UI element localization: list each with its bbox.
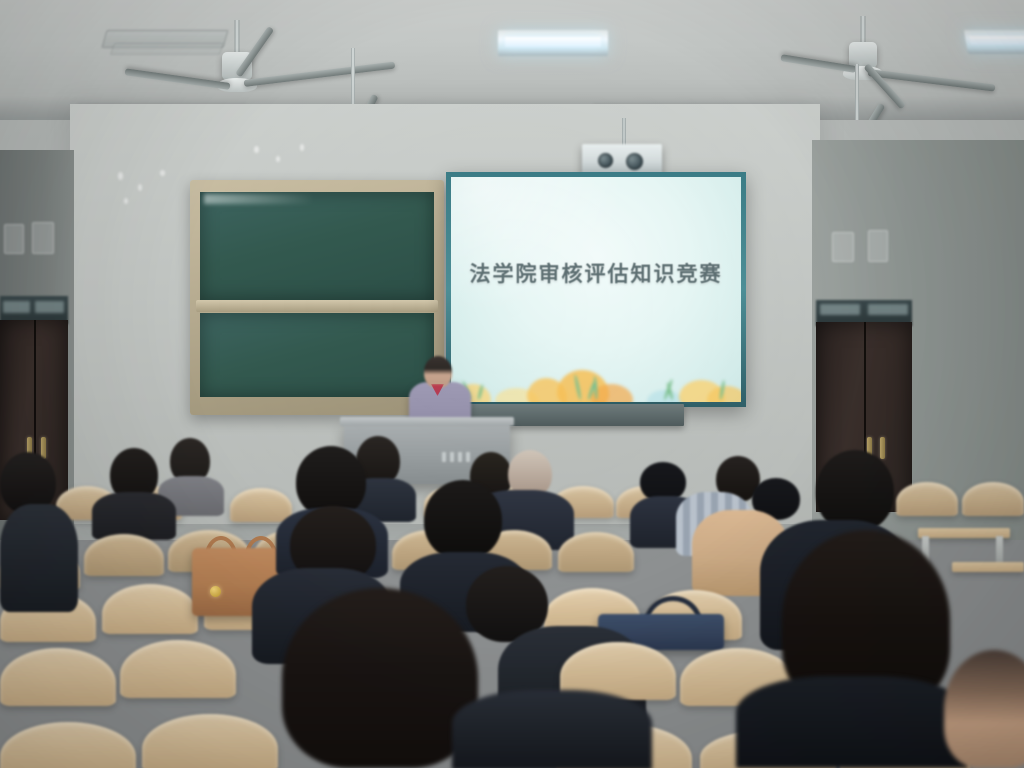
projector-lens	[598, 153, 613, 168]
transom-pane	[820, 304, 860, 315]
audience-head-foreground	[282, 588, 478, 768]
wall-notice-left-1	[4, 224, 24, 254]
presenter-head	[424, 356, 452, 388]
fluorescent-light-2	[498, 30, 608, 56]
fluorescent-light-1-diffuser	[110, 43, 224, 55]
lectern-vent	[458, 452, 462, 462]
audience-body-foreground	[736, 676, 968, 768]
audience-body-foreground	[452, 690, 652, 768]
lectern-top	[340, 417, 514, 426]
light-tube	[969, 36, 1024, 45]
handbag-clasp	[210, 586, 221, 597]
slide-decoration	[451, 346, 741, 402]
audience-head-foreground	[944, 650, 1024, 768]
ceiling-fan-3	[862, 16, 864, 18]
seat	[558, 532, 634, 572]
wall-mark	[160, 170, 165, 176]
projector-lens	[626, 153, 643, 170]
chalkboard-panel-top	[200, 192, 434, 300]
ceiling-fan-4	[856, 64, 858, 66]
seat	[84, 534, 164, 576]
slide-title: 法学院审核评估知识竞赛	[451, 258, 741, 288]
wall-mark	[118, 172, 123, 180]
ceiling-fan-2	[352, 48, 354, 50]
wall-mark	[276, 156, 280, 162]
transom-pane	[868, 304, 908, 315]
lectern-vent	[450, 452, 454, 462]
chalkboard-glare	[204, 194, 314, 204]
seat	[102, 584, 198, 634]
chalkboard-panel-bottom	[200, 313, 434, 397]
door-right-handle[interactable]	[880, 437, 885, 459]
wall-mark	[124, 198, 128, 204]
fan-rod	[235, 20, 240, 54]
transom-pane	[3, 301, 30, 313]
audience-body	[0, 504, 78, 612]
audience-head	[424, 480, 502, 560]
lecture-hall-photo: 法学院审核评估知识竞赛	[0, 0, 1024, 768]
seat	[0, 648, 116, 706]
seat	[120, 640, 236, 698]
seat	[0, 722, 136, 768]
wall-notice-left-2	[32, 222, 54, 254]
light-tube	[505, 37, 602, 47]
screen-glare	[451, 177, 625, 312]
seat	[896, 482, 958, 516]
seat	[962, 482, 1024, 516]
seat	[142, 714, 278, 768]
lectern-vent	[466, 452, 470, 462]
fan-rod	[861, 16, 866, 44]
lectern-vent	[442, 452, 446, 462]
chalkboard-ledge	[196, 300, 438, 312]
wall-mark	[300, 144, 304, 151]
desk	[952, 562, 1024, 572]
transom-pane	[35, 301, 64, 313]
ceiling-fan-1	[236, 20, 238, 22]
wall-mark	[138, 184, 142, 191]
seat	[230, 488, 292, 522]
fan-rod	[855, 64, 859, 126]
fan-motor	[849, 42, 877, 68]
projection-screen: 法学院审核评估知识竞赛	[446, 172, 746, 407]
audience-body	[92, 492, 176, 540]
wall-notice-right-2	[868, 230, 888, 262]
wall-mark	[254, 146, 259, 153]
green-chalkboard	[190, 180, 444, 415]
fluorescent-light-3	[964, 30, 1024, 54]
projection-surface: 法学院审核评估知识竞赛	[451, 177, 741, 402]
wall-notice-right-1	[832, 232, 854, 262]
